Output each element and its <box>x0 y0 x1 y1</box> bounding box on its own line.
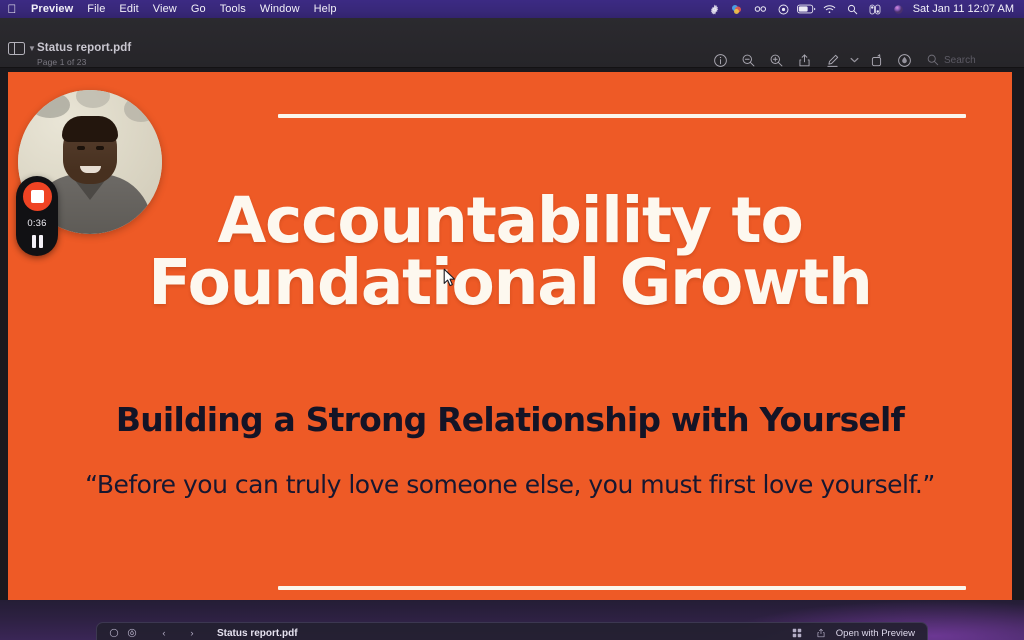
slide-rule-bottom <box>278 586 966 590</box>
pause-bar-icon <box>39 235 43 248</box>
toolbar-actions: Search <box>706 47 1012 73</box>
menu-bar-status-tray: Sat Jan 11 12:07 AM <box>703 0 1020 18</box>
annotate-icon[interactable] <box>890 47 918 73</box>
camera-wall-decor <box>30 92 70 118</box>
quicklook-title: Status report.pdf <box>217 628 298 639</box>
quicklook-next-button[interactable]: › <box>183 628 201 639</box>
loom-icon[interactable] <box>749 0 772 18</box>
preview-toolbar: ▼ Status report.pdf Page 1 of 23 <box>0 18 1024 68</box>
chevron-down-icon: ▼ <box>28 45 36 53</box>
info-icon[interactable] <box>706 47 734 73</box>
camera-person-eye <box>96 146 104 150</box>
menu-item-view[interactable]: View <box>146 0 184 18</box>
quicklook-prev-button[interactable]: ‹ <box>155 628 173 639</box>
screen-record-icon[interactable] <box>772 0 795 18</box>
menu-item-go[interactable]: Go <box>184 0 213 18</box>
apple-menu-icon[interactable]:  <box>0 3 24 16</box>
markup-chevron-icon[interactable] <box>846 47 862 73</box>
document-title: Status report.pdf <box>37 42 131 54</box>
share-icon[interactable] <box>790 47 818 73</box>
pause-bar-icon <box>32 235 36 248</box>
toolbar-search-placeholder: Search <box>944 55 976 66</box>
menu-item-edit[interactable]: Edit <box>112 0 145 18</box>
quicklook-bar: ‹ › Status report.pdf Open with Preview <box>96 622 928 640</box>
stop-square-icon <box>31 190 44 203</box>
menu-item-preview[interactable]: Preview <box>24 0 80 18</box>
stop-recording-button[interactable] <box>21 180 54 213</box>
menu-item-window[interactable]: Window <box>253 0 307 18</box>
zoom-out-icon[interactable] <box>734 47 762 73</box>
menu-item-help[interactable]: Help <box>307 0 344 18</box>
open-with-preview-button[interactable]: Open with Preview <box>836 628 915 639</box>
toolbar-search-field[interactable]: Search <box>926 53 1012 67</box>
document-page-indicator: Page 1 of 23 <box>37 57 86 67</box>
recording-elapsed-time: 0:36 <box>27 218 46 229</box>
menu-bar-left:  Preview File Edit View Go Tools Window… <box>0 0 344 18</box>
menu-bar-clock[interactable]: Sat Jan 11 12:07 AM <box>910 0 1020 18</box>
wifi-icon[interactable] <box>818 0 841 18</box>
camera-person-hair <box>62 116 118 142</box>
recorder-controls: 0:36 <box>16 176 58 256</box>
siri-icon[interactable] <box>887 0 910 18</box>
rotate-icon[interactable] <box>862 47 890 73</box>
menu-bar:  Preview File Edit View Go Tools Window… <box>0 0 1024 18</box>
gear-icon[interactable] <box>703 0 726 18</box>
grid-view-icon[interactable] <box>788 628 806 638</box>
search-icon[interactable] <box>841 0 864 18</box>
markup-pen-icon[interactable] <box>818 47 846 73</box>
sidebar-toggle-button[interactable]: ▼ <box>8 42 36 55</box>
control-center-icon[interactable] <box>864 0 887 18</box>
slide-rule-top <box>278 114 966 118</box>
quicklook-actions: Open with Preview <box>788 628 927 639</box>
screen:  Preview File Edit View Go Tools Window… <box>0 0 1024 640</box>
zoom-in-icon[interactable] <box>762 47 790 73</box>
markup-icon[interactable] <box>105 628 123 638</box>
menu-item-tools[interactable]: Tools <box>213 0 253 18</box>
camera-person-eye <box>77 146 85 150</box>
pause-recording-button[interactable] <box>32 235 43 248</box>
rotate-icon[interactable] <box>123 628 141 638</box>
camera-wall-decor <box>124 96 158 122</box>
slide-quote: “Before you can truly love someone else,… <box>8 472 1012 497</box>
app-colorful-icon[interactable] <box>726 0 749 18</box>
slide-subtitle: Building a Strong Relationship with Your… <box>8 403 1012 436</box>
share-icon[interactable] <box>812 628 830 638</box>
sidebar-icon <box>8 42 25 55</box>
menu-item-file[interactable]: File <box>80 0 112 18</box>
battery-icon[interactable] <box>795 0 818 18</box>
